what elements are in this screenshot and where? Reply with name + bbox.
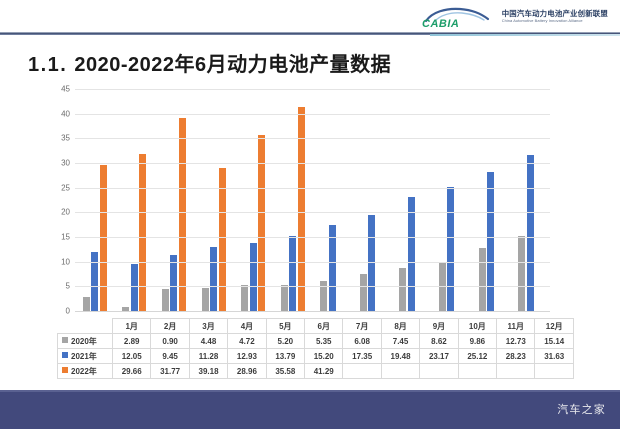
bar <box>202 288 209 311</box>
table-corner-cell <box>58 319 113 334</box>
table-column-header: 10月 <box>458 319 496 334</box>
table-cell <box>497 364 535 379</box>
gridline: 40 <box>75 114 550 115</box>
table-cell: 12.05 <box>113 349 151 364</box>
table-column-header: 9月 <box>420 319 458 334</box>
legend-swatch-icon <box>62 367 68 373</box>
bar <box>241 285 248 311</box>
gridline: 35 <box>75 138 550 139</box>
y-axis-tick-label: 5 <box>66 282 70 291</box>
bar <box>329 225 336 311</box>
bar <box>368 215 375 311</box>
table-column-header: 6月 <box>305 319 343 334</box>
bar <box>91 252 98 311</box>
table-column-header: 12月 <box>535 319 574 334</box>
table-cell: 23.17 <box>420 349 458 364</box>
table-row: 2020年2.890.904.484.725.205.356.087.458.6… <box>58 334 574 349</box>
bar-group <box>352 89 392 311</box>
bar-group <box>115 89 155 311</box>
title-number: 1.1. <box>28 54 67 76</box>
table-cell: 9.45 <box>151 349 189 364</box>
bar <box>170 255 177 311</box>
table-cell: 15.14 <box>535 334 574 349</box>
bar-group <box>471 89 511 311</box>
table-cell: 11.28 <box>189 349 227 364</box>
bar-group <box>154 89 194 311</box>
chart-bars-container <box>75 89 550 311</box>
bar <box>83 297 90 311</box>
slide: CABIA 中国汽车动力电池产业创新联盟 China Automotive Ba… <box>0 0 620 429</box>
bar-group <box>194 89 234 311</box>
legend-series-name: 2022年 <box>71 367 97 376</box>
legend-swatch-icon <box>62 337 68 343</box>
bar <box>250 243 257 311</box>
bar <box>281 285 288 311</box>
gridline: 25 <box>75 188 550 189</box>
table-cell <box>420 364 458 379</box>
bar <box>210 247 217 311</box>
table-column-header: 1月 <box>113 319 151 334</box>
bar-group <box>273 89 313 311</box>
title-text: 2020-2022年6月动力电池产量数据 <box>74 54 391 76</box>
table-cell: 28.96 <box>228 364 266 379</box>
table-cell: 19.48 <box>381 349 419 364</box>
bar <box>518 236 525 311</box>
chart-plot-area: 051015202530354045 <box>75 89 550 311</box>
bar <box>131 264 138 311</box>
bar-group <box>431 89 471 311</box>
table-cell <box>343 364 381 379</box>
table-row: 2022年29.6631.7739.1828.9635.5841.29 <box>58 364 574 379</box>
table-row: 2021年12.059.4511.2812.9313.7915.2017.351… <box>58 349 574 364</box>
table-cell: 13.79 <box>266 349 304 364</box>
table-cell: 31.63 <box>535 349 574 364</box>
bar <box>139 154 146 311</box>
bar <box>399 268 406 311</box>
bar <box>219 168 226 311</box>
legend-series-name: 2021年 <box>71 352 97 361</box>
bar <box>479 248 486 311</box>
table-cell <box>458 364 496 379</box>
table-series-label: 2021年 <box>58 349 113 364</box>
slide-header: CABIA 中国汽车动力电池产业创新联盟 China Automotive Ba… <box>0 0 620 33</box>
svg-text:CABIA: CABIA <box>422 18 459 29</box>
table-cell: 5.20 <box>266 334 304 349</box>
cabia-logo: CABIA 中国汽车动力电池产业创新联盟 China Automotive Ba… <box>418 5 608 29</box>
bar <box>447 187 454 311</box>
table-cell: 25.12 <box>458 349 496 364</box>
table-series-label: 2022年 <box>58 364 113 379</box>
table-cell: 41.29 <box>305 364 343 379</box>
gridline: 10 <box>75 262 550 263</box>
bar-chart: 051015202530354045 <box>30 84 590 324</box>
y-axis-tick-label: 0 <box>66 307 70 316</box>
table-cell: 39.18 <box>189 364 227 379</box>
bar <box>289 236 296 311</box>
logo-text-block: 中国汽车动力电池产业创新联盟 China Automotive Battery … <box>502 10 608 23</box>
gridline: 5 <box>75 286 550 287</box>
y-axis-tick-label: 40 <box>61 109 70 118</box>
slide-footer: 汽车之家 <box>0 390 620 429</box>
watermark: 汽车之家 <box>557 401 606 417</box>
table-cell: 4.72 <box>228 334 266 349</box>
table-column-header: 2月 <box>151 319 189 334</box>
table-cell: 6.08 <box>343 334 381 349</box>
table-cell: 9.86 <box>458 334 496 349</box>
table-column-header: 8月 <box>381 319 419 334</box>
table-cell <box>381 364 419 379</box>
legend-series-name: 2020年 <box>71 337 97 346</box>
footer-top-accent <box>0 390 620 392</box>
table-row: 1月2月3月4月5月6月7月8月9月10月11月12月 <box>58 319 574 334</box>
table-cell: 2.89 <box>113 334 151 349</box>
gridline: 45 <box>75 89 550 90</box>
table-cell: 15.20 <box>305 349 343 364</box>
table-column-header: 11月 <box>497 319 535 334</box>
header-divider-accent <box>430 34 620 36</box>
table-cell: 8.62 <box>420 334 458 349</box>
y-axis-tick-label: 20 <box>61 208 70 217</box>
gridline: 0 <box>75 311 550 312</box>
bar <box>527 155 534 311</box>
y-axis-tick-label: 35 <box>61 134 70 143</box>
bar <box>162 289 169 311</box>
table-cell: 29.66 <box>113 364 151 379</box>
bar <box>258 135 265 311</box>
table-cell: 5.35 <box>305 334 343 349</box>
y-axis-tick-label: 45 <box>61 85 70 94</box>
table-column-header: 3月 <box>189 319 227 334</box>
table-cell: 31.77 <box>151 364 189 379</box>
bar-group <box>392 89 432 311</box>
bar-group <box>75 89 115 311</box>
bar-group <box>233 89 273 311</box>
bar <box>179 118 186 311</box>
y-axis-tick-label: 10 <box>61 257 70 266</box>
bar <box>360 274 367 311</box>
chart-data-table: 1月2月3月4月5月6月7月8月9月10月11月12月 2020年2.890.9… <box>57 318 574 379</box>
table-column-header: 7月 <box>343 319 381 334</box>
page-title: 1.1.2020-2022年6月动力电池产量数据 <box>28 48 391 77</box>
cabia-logo-mark-icon: CABIA <box>418 5 496 29</box>
bar-group <box>312 89 352 311</box>
bar <box>408 197 415 311</box>
y-axis-tick-label: 15 <box>61 233 70 242</box>
table-cell: 0.90 <box>151 334 189 349</box>
table-cell: 17.35 <box>343 349 381 364</box>
table-cell: 12.93 <box>228 349 266 364</box>
table-cell: 12.73 <box>497 334 535 349</box>
gridline: 30 <box>75 163 550 164</box>
gridline: 15 <box>75 237 550 238</box>
y-axis-tick-label: 25 <box>61 183 70 192</box>
table-header: 1月2月3月4月5月6月7月8月9月10月11月12月 <box>58 319 574 334</box>
table-cell: 4.48 <box>189 334 227 349</box>
table-series-label: 2020年 <box>58 334 113 349</box>
table-body: 2020年2.890.904.484.725.205.356.087.458.6… <box>58 334 574 379</box>
table-cell <box>535 364 574 379</box>
table-cell: 35.58 <box>266 364 304 379</box>
table-column-header: 5月 <box>266 319 304 334</box>
logo-english-name: China Automotive Battery Innovation Alli… <box>502 19 608 24</box>
bar-group <box>510 89 550 311</box>
table-column-header: 4月 <box>228 319 266 334</box>
bar <box>487 172 494 311</box>
y-axis-tick-label: 30 <box>61 159 70 168</box>
table-cell: 7.45 <box>381 334 419 349</box>
table-cell: 28.23 <box>497 349 535 364</box>
legend-swatch-icon <box>62 352 68 358</box>
gridline: 20 <box>75 212 550 213</box>
